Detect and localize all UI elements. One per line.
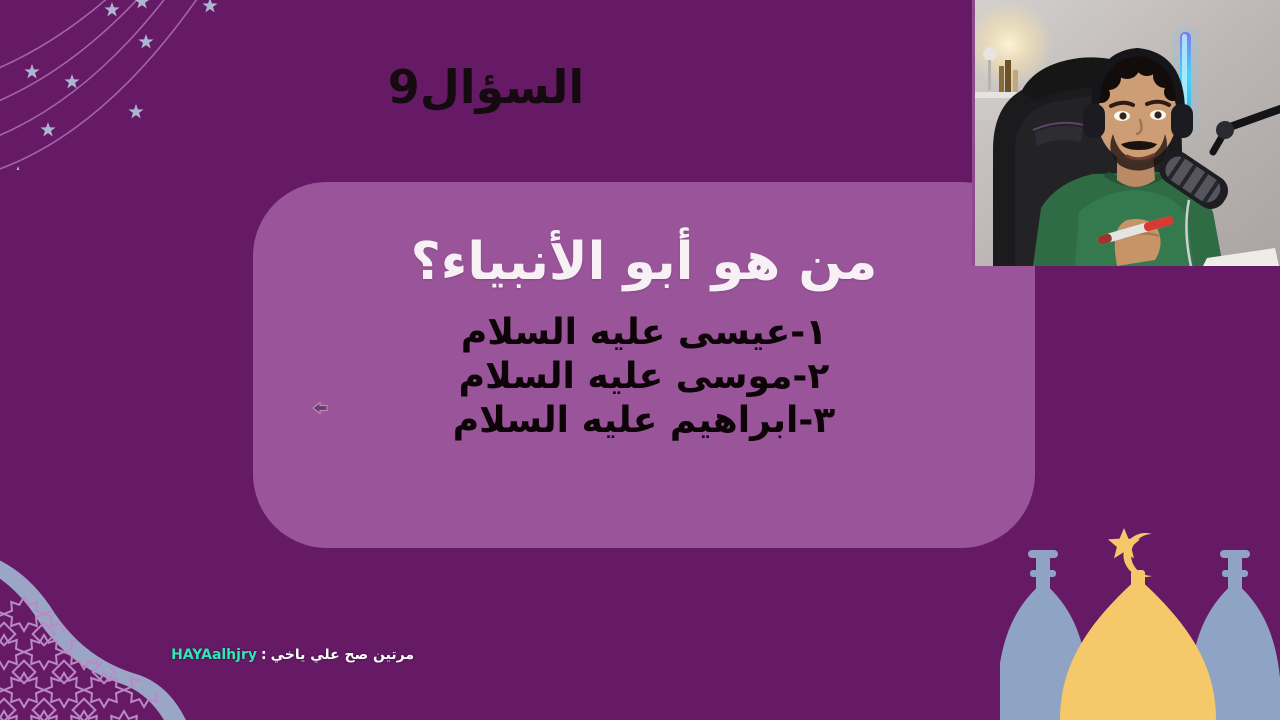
chat-separator: : bbox=[261, 647, 267, 663]
chat-username[interactable]: HAYAalhjry bbox=[171, 647, 257, 663]
answer-option-3[interactable]: ٣-ابراهيم عليه السلام bbox=[293, 399, 995, 443]
webcam-video-frame bbox=[975, 0, 1280, 266]
answer-options-list: ١-عيسى عليه السلام ٢-موسى عليه السلام ٣-… bbox=[293, 311, 995, 443]
answer-option-2[interactable]: ٢-موسى عليه السلام bbox=[293, 355, 995, 399]
answer-option-1[interactable]: ١-عيسى عليه السلام bbox=[293, 311, 995, 355]
stream-overlay-stage: السؤال9 من هو أبو الأنبياء؟ ١-عيسى عليه … bbox=[0, 0, 1280, 720]
chat-overlay: مرتين صح علي ياخي : HAYAalhjry bbox=[0, 642, 420, 668]
question-number-title: السؤال9 bbox=[0, 62, 972, 113]
streamer-webcam-feed[interactable] bbox=[972, 0, 1280, 266]
geometric-pattern-decoration bbox=[0, 540, 200, 720]
question-text: من هو أبو الأنبياء؟ bbox=[293, 230, 995, 295]
mosque-decoration bbox=[1000, 520, 1280, 720]
mosque-domes-icon bbox=[1000, 520, 1280, 720]
chat-message-text: مرتين صح علي ياخي bbox=[271, 647, 414, 663]
chat-message-line: مرتين صح علي ياخي : HAYAalhjry bbox=[171, 647, 414, 663]
islamic-star-lattice-icon bbox=[0, 540, 200, 720]
question-card: من هو أبو الأنبياء؟ ١-عيسى عليه السلام ٢… bbox=[253, 182, 1035, 548]
